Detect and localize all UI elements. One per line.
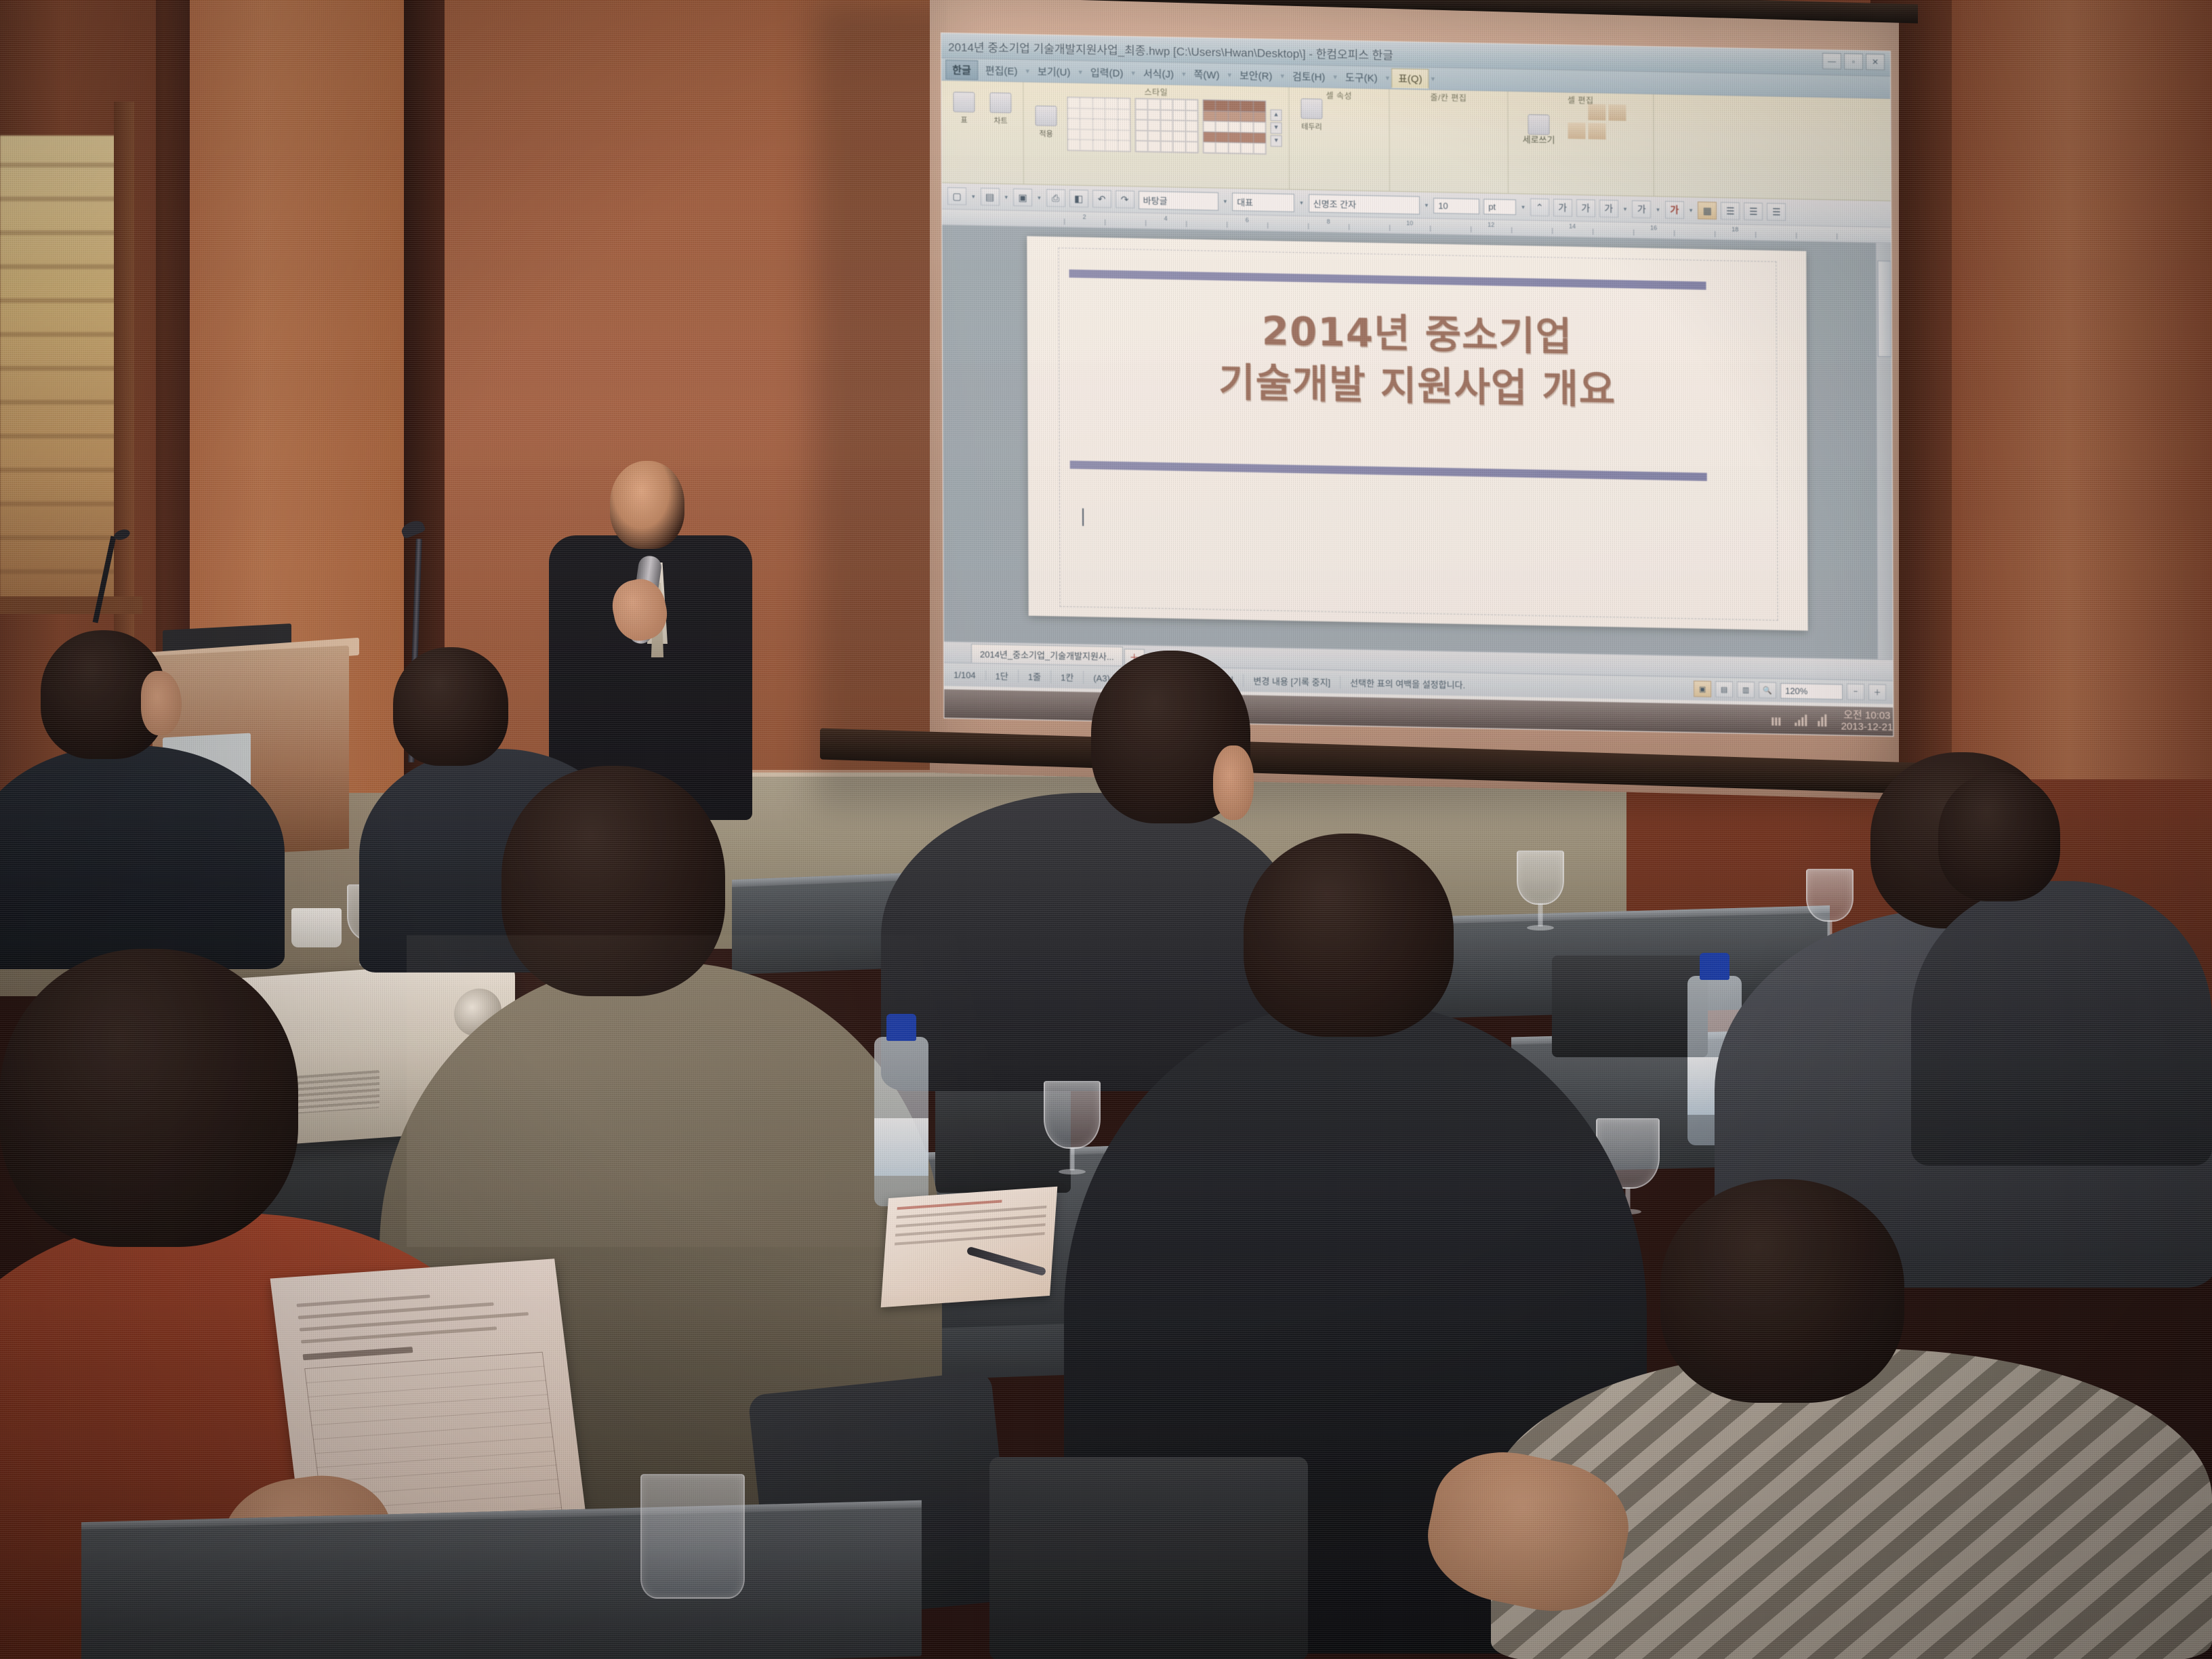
align-bottom-right-icon[interactable] — [1568, 142, 1586, 159]
text-wrap-icon[interactable] — [1609, 142, 1626, 159]
underline-button[interactable]: 가 — [1599, 200, 1618, 218]
scrollbar-thumb[interactable] — [1877, 261, 1891, 357]
align-center-button[interactable]: ☰ — [1744, 203, 1763, 221]
font-size-stepper-icon[interactable]: ⌃ — [1530, 199, 1549, 217]
preview-icon[interactable]: ◧ — [1069, 190, 1088, 208]
table-style-thumb-plain[interactable] — [1067, 97, 1130, 152]
ruler-mark-0: 2 — [1083, 213, 1086, 220]
delete-row-icon[interactable] — [1422, 101, 1446, 122]
insert-column-icon[interactable] — [1397, 124, 1420, 145]
status-page: 1/104 — [944, 670, 986, 680]
cell-protect-icon[interactable] — [1629, 143, 1647, 160]
border-line-style-icon[interactable] — [1332, 99, 1355, 120]
menu-item-tools[interactable]: 도구(K) — [1339, 68, 1384, 87]
ruler-mark-3: 8 — [1327, 218, 1330, 225]
text-caret — [1082, 508, 1084, 526]
seminar-room-photo: 2014년 중소기업 기술개발지원사업_최종.hwp [C:\Users\Hwa… — [0, 0, 2212, 1659]
menu-item-view[interactable]: 보기(U) — [1031, 62, 1077, 81]
align-middle-left-icon[interactable] — [1629, 104, 1646, 121]
delete-column-icon[interactable] — [1423, 125, 1446, 146]
minimize-button[interactable]: — — [1822, 53, 1841, 70]
wine-glass — [1044, 1081, 1101, 1149]
align-left-button[interactable]: ☰ — [1721, 202, 1740, 220]
new-document-icon[interactable]: ▢ — [947, 187, 966, 205]
gallery-up-icon[interactable]: ▲ — [1270, 109, 1282, 121]
style-group-select[interactable]: 대표 — [1232, 192, 1294, 212]
save-icon[interactable]: ▣ — [1013, 188, 1032, 207]
ribbon-group-style: 스타일 적용 — [1023, 82, 1290, 189]
view-normal-icon[interactable]: ▣ — [1694, 680, 1711, 697]
menu-item-table-active[interactable]: 표(Q) — [1391, 68, 1429, 88]
window-title-text: 2014년 중소기업 기술개발지원사업_최종.hwp [C:\Users\Hwa… — [948, 37, 1393, 63]
table-style-gallery[interactable]: ▲ ▼ ▾ — [1067, 94, 1282, 155]
ribbon-button-chart[interactable]: 차트 — [985, 92, 1016, 126]
gallery-scroll-arrows[interactable]: ▲ ▼ ▾ — [1270, 109, 1282, 146]
ribbon-group-label-0 — [941, 82, 1023, 83]
view-page-icon[interactable]: ▤ — [1715, 681, 1733, 698]
print-icon[interactable]: ⎙ — [1046, 189, 1065, 207]
ribbon-group-label-3: 줄/칸 편집 — [1389, 91, 1507, 104]
gallery-more-icon[interactable]: ▾ — [1271, 135, 1282, 146]
chair — [989, 1457, 1308, 1659]
gallery-down-icon[interactable]: ▼ — [1271, 122, 1282, 134]
volume-icon[interactable] — [1818, 714, 1832, 726]
align-middle-right-icon[interactable] — [1588, 123, 1605, 140]
water-glass — [640, 1474, 745, 1599]
ribbon-group-cell-properties: 셀 속성 테두리 — [1289, 87, 1390, 191]
ribbon-group-table: 표 차트 — [941, 81, 1024, 184]
menu-item-review[interactable]: 검토(H) — [1286, 66, 1332, 85]
chart-icon — [989, 92, 1011, 113]
ribbon-caption-table: 표 — [960, 115, 967, 125]
bold-button[interactable]: 가 — [1553, 199, 1572, 217]
ribbon-caption-border: 테두리 — [1301, 121, 1322, 132]
redo-icon[interactable]: ↷ — [1115, 190, 1134, 209]
style-select[interactable]: 바탕글 — [1139, 190, 1218, 210]
row-column-buttons[interactable] — [1396, 100, 1446, 145]
audience-ear — [1213, 745, 1254, 820]
close-button[interactable]: ✕ — [1866, 54, 1885, 70]
cell-fill-icon[interactable] — [1333, 123, 1356, 144]
align-bottom-left-icon[interactable] — [1608, 123, 1626, 140]
ribbon-caption-vertical-text: 세로쓰기 — [1523, 134, 1555, 146]
ribbon-button-border[interactable]: 테두리 — [1296, 98, 1327, 132]
menu-item-edit[interactable]: 편집(E) — [979, 61, 1024, 80]
merge-cells-icon[interactable] — [1451, 101, 1474, 122]
ruler-mark-2: 6 — [1246, 217, 1249, 224]
cell-margin-icon[interactable] — [1589, 142, 1606, 159]
ruler-mark-6: 14 — [1569, 223, 1576, 230]
menu-item-insert[interactable]: 입력(D) — [1084, 63, 1130, 82]
ruler-mark-4: 10 — [1406, 220, 1413, 226]
water-bottle — [874, 1037, 928, 1206]
find-icon[interactable]: 🔍 — [1759, 682, 1776, 699]
chair — [1552, 956, 1708, 1057]
signal-icon[interactable] — [1795, 714, 1809, 726]
zoom-in-button[interactable]: ＋ — [1868, 684, 1886, 701]
menu-item-security[interactable]: 보안(R) — [1233, 66, 1279, 85]
slide-title: 2014년 중소기업 기술개발 지원사업 개요 — [1027, 300, 1807, 419]
table-style-thumb-colored[interactable] — [1202, 99, 1266, 155]
presenter-head — [610, 461, 684, 549]
ribbon-toolbar[interactable]: 표 차트 스타일 적용 — [941, 81, 1891, 201]
ribbon-button-table[interactable]: 표 — [948, 91, 979, 125]
italic-button[interactable]: 가 — [1576, 199, 1595, 218]
taskbar-time: 오전 10:03 — [1841, 709, 1893, 722]
cell-gradient-icon[interactable] — [1359, 123, 1382, 144]
border-icon — [1300, 98, 1322, 119]
insert-row-icon[interactable] — [1396, 100, 1419, 121]
align-bottom-center-icon[interactable] — [1629, 124, 1646, 141]
table-style-thumb-grid[interactable] — [1134, 98, 1198, 154]
window-frame — [114, 102, 134, 644]
apply-style-icon — [1035, 105, 1057, 126]
menu-item-page[interactable]: 쪽(W) — [1187, 64, 1225, 83]
wine-glass — [1517, 851, 1564, 905]
align-top-left-icon[interactable] — [1568, 104, 1585, 121]
menu-item-format[interactable]: 서식(J) — [1137, 64, 1180, 83]
ribbon-group-row-column-edit: 줄/칸 편집 — [1389, 89, 1509, 193]
document-page[interactable]: 2014년 중소기업 기술개발 지원사업 개요 — [1027, 236, 1807, 630]
ribbon-caption-apply-style: 적용 — [1039, 127, 1052, 138]
vertical-text-icon — [1528, 115, 1549, 136]
status-char: 1칸 — [1051, 670, 1084, 684]
ruler-mark-5: 12 — [1488, 222, 1494, 228]
merge-split-buttons[interactable] — [1451, 101, 1500, 146]
table-icon — [953, 91, 975, 112]
ribbon-caption-chart: 차트 — [994, 115, 1007, 126]
vertical-scrollbar[interactable] — [1875, 243, 1893, 659]
font-family-select[interactable]: 신명조 간자 — [1309, 194, 1420, 214]
document-tab[interactable]: 2014년_중소기업_기술개발지원사... — [971, 644, 1123, 665]
ribbon-button-apply-style[interactable]: 적용 — [1030, 105, 1061, 139]
ribbon-group-label-2: 셀 속성 — [1289, 89, 1389, 102]
status-line: 1줄 — [1019, 670, 1051, 683]
taskbar-clock[interactable]: 오전 10:03 2013-12-21 — [1841, 709, 1893, 733]
zoom-controls[interactable]: ▣ ▤ ▥ 🔍 120% − ＋ — [1694, 680, 1893, 701]
cell-align-buttons[interactable] — [1568, 104, 1646, 159]
split-table-icon[interactable] — [1452, 125, 1475, 146]
battery-icon[interactable] — [1772, 714, 1786, 726]
front-table — [81, 1500, 922, 1659]
align-top-center-icon[interactable] — [1588, 104, 1605, 121]
open-file-icon[interactable]: ▤ — [981, 188, 1000, 206]
maximize-button[interactable]: ▫ — [1844, 54, 1863, 70]
zoom-out-button[interactable]: − — [1847, 684, 1864, 701]
window-controls[interactable]: — ▫ ✕ — [1822, 53, 1885, 70]
taskbar-date: 2013-12-21 — [1841, 721, 1893, 734]
audience-face — [141, 671, 182, 735]
view-outline-icon[interactable]: ▥ — [1737, 682, 1755, 699]
align-right-button[interactable]: ☰ — [1767, 203, 1786, 221]
font-color-button[interactable]: 가 — [1665, 201, 1684, 220]
ribbon-button-vertical-text[interactable]: 세로쓰기 — [1515, 114, 1562, 146]
window-with-blinds — [0, 136, 119, 610]
highlight-button[interactable]: ▦ — [1698, 201, 1717, 220]
split-cells-icon[interactable] — [1477, 102, 1500, 123]
cell-style-buttons[interactable] — [1332, 99, 1382, 144]
equal-width-icon[interactable] — [1478, 125, 1501, 146]
status-column: 1단 — [986, 669, 1019, 682]
border-thickness-icon[interactable] — [1359, 100, 1382, 121]
strikethrough-button[interactable]: 가 — [1632, 201, 1651, 219]
ruler-mark-8: 18 — [1732, 226, 1738, 232]
ruler-mark-1: 4 — [1164, 215, 1168, 222]
document-canvas[interactable]: 2014년 중소기업 기술개발 지원사업 개요 — [942, 225, 1893, 659]
wine-glass — [1806, 869, 1853, 922]
paper-cup — [291, 908, 342, 947]
undo-icon[interactable]: ↶ — [1092, 190, 1111, 208]
ribbon-group-cell-edit: 셀 편집 세로쓰기 — [1508, 91, 1654, 196]
hangul-word-processor-window[interactable]: 2014년 중소기업 기술개발지원사업_최종.hwp [C:\Users\Hwa… — [941, 33, 1893, 737]
ruler-mark-7: 16 — [1650, 224, 1657, 231]
font-size-input[interactable]: 10 — [1433, 197, 1479, 213]
app-logo-menu[interactable]: 한글 — [945, 60, 978, 80]
status-track-changes[interactable]: 변경 내용 [기록 중지] — [1244, 674, 1340, 689]
align-middle-center-icon[interactable] — [1568, 123, 1585, 140]
zoom-level[interactable]: 120% — [1780, 682, 1843, 699]
align-top-right-icon[interactable] — [1608, 104, 1626, 121]
window-sill — [0, 596, 142, 614]
status-hint: 선택한 표의 여백을 설정합니다. — [1340, 676, 1694, 695]
font-size-unit: pt — [1483, 199, 1516, 215]
